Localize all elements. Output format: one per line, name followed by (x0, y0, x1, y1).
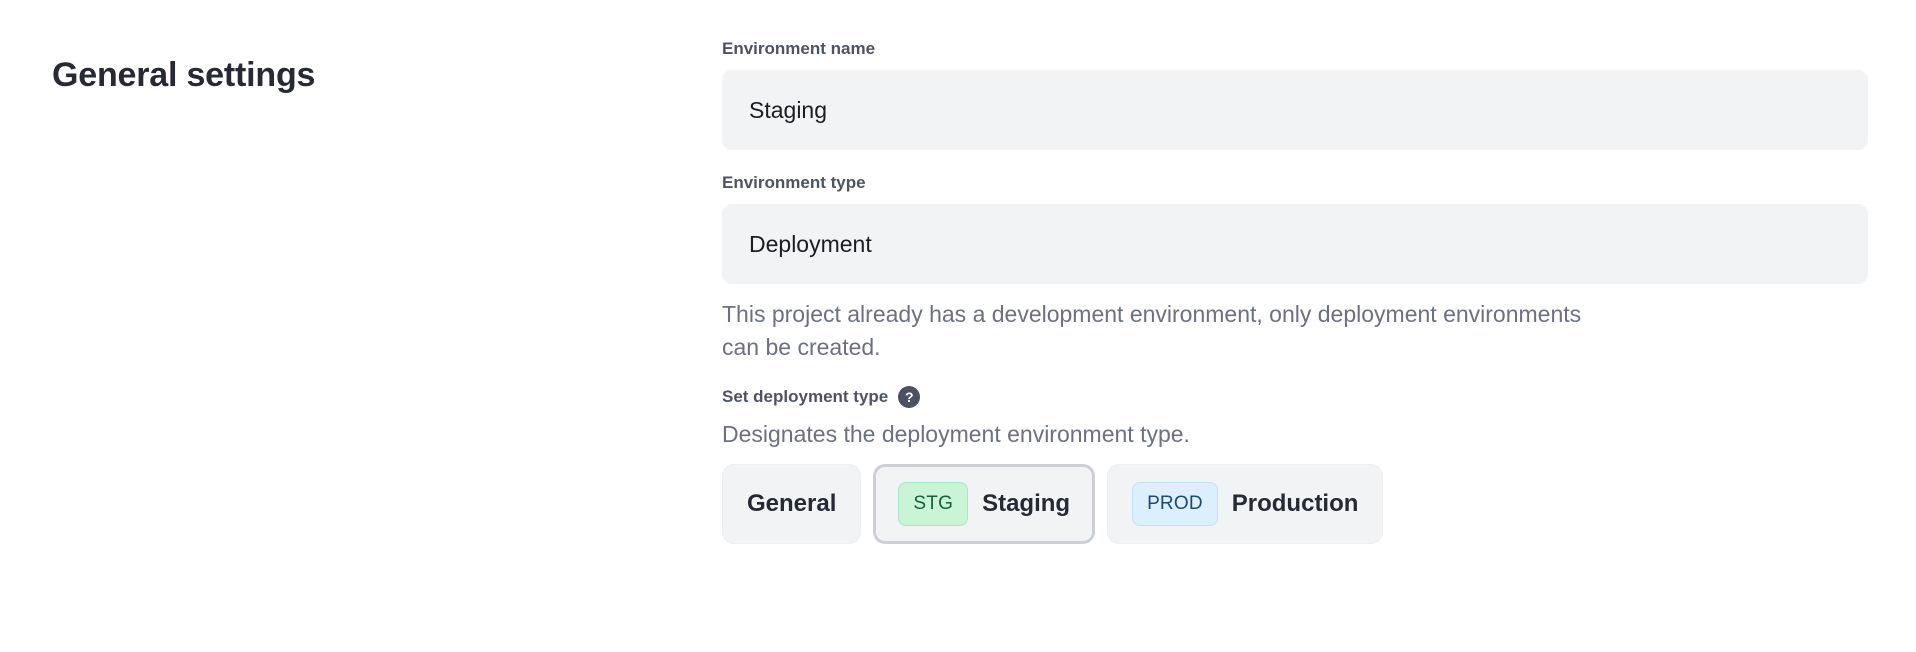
deployment-option-general-label: General (747, 490, 836, 518)
environment-type-field-group: Environment type This project already ha… (722, 172, 1868, 364)
deployment-option-general[interactable]: General (722, 464, 861, 544)
help-circle-icon[interactable]: ? (898, 386, 920, 408)
deployment-type-description: Designates the deployment environment ty… (722, 418, 1868, 450)
deployment-option-staging-label: Staging (982, 490, 1070, 518)
badge-stg: STG (898, 482, 968, 526)
deployment-type-heading-row: Set deployment type ? (722, 386, 1868, 408)
environment-type-helper-text: This project already has a development e… (722, 298, 1622, 364)
badge-prod: PROD (1132, 482, 1218, 526)
deployment-option-staging[interactable]: STG Staging (873, 464, 1095, 544)
environment-type-input[interactable] (722, 204, 1868, 284)
environment-name-label: Environment name (722, 38, 1868, 60)
deployment-option-production-label: Production (1232, 490, 1359, 518)
environment-name-field-group: Environment name (722, 38, 1868, 150)
deployment-option-production[interactable]: PROD Production (1107, 464, 1383, 544)
environment-name-input[interactable] (722, 70, 1868, 150)
deployment-type-heading: Set deployment type (722, 386, 888, 408)
environment-type-label: Environment type (722, 172, 1868, 194)
deployment-type-section: Set deployment type ? Designates the dep… (722, 386, 1868, 544)
settings-form: Environment name Environment type This p… (722, 38, 1868, 544)
page-title: General settings (52, 53, 315, 97)
deployment-type-option-group: General STG Staging PROD Production (722, 464, 1868, 544)
general-settings-page: General settings Environment name Enviro… (0, 0, 1916, 652)
